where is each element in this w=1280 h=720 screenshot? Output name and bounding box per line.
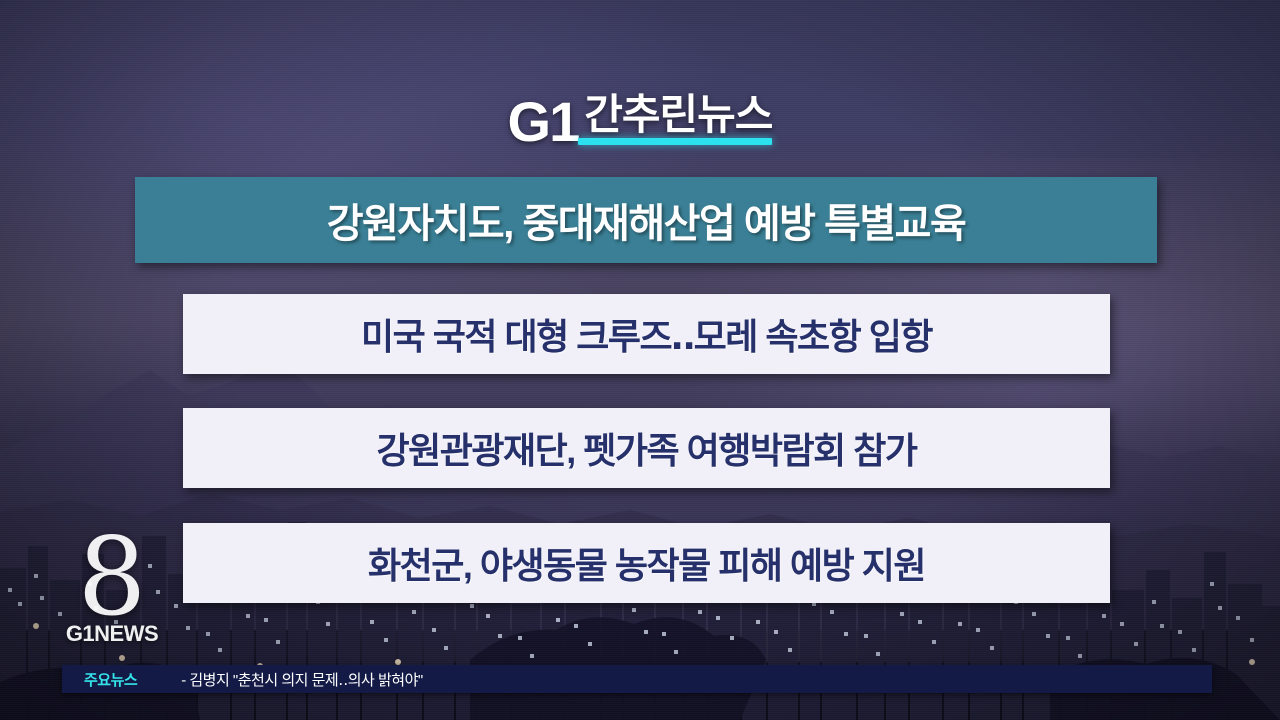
ticker-headline: - 김병지 "춘천시 의지 문제‥의사 밝혀야" <box>181 669 423 690</box>
program-title-wrap: 간추린뉴스 <box>584 94 772 148</box>
g1-logo-mark: G1 <box>508 94 579 150</box>
story-headline-3: 화천군, 야생동물 농작물 피해 예방 지원 <box>368 537 925 589</box>
news-ticker: 주요뉴스 - 김병지 "춘천시 의지 문제‥의사 밝혀야" <box>62 665 1212 693</box>
title-underline <box>578 138 772 145</box>
broadcast-screen: G1 간추린뉴스 강원자치도, 중대재해산업 예방 특별교육 미국 국적 대형 … <box>0 0 1280 720</box>
story-headline-1: 미국 국적 대형 크루즈‥모레 속초항 입항 <box>361 308 932 360</box>
story-banner-1[interactable]: 미국 국적 대형 크루즈‥모레 속초항 입항 <box>183 294 1110 374</box>
story-banner-2[interactable]: 강원관광재단, 펫가족 여행박람회 참가 <box>183 408 1110 488</box>
program-title: 간추린뉴스 <box>584 91 772 138</box>
lead-story-headline: 강원자치도, 중대재해산업 예방 특별교육 <box>327 191 966 249</box>
ticker-label: 주요뉴스 <box>84 669 137 690</box>
lead-story-banner[interactable]: 강원자치도, 중대재해산업 예방 특별교육 <box>135 177 1157 263</box>
story-headline-2: 강원관광재단, 펫가족 여행박람회 참가 <box>377 422 917 474</box>
program-logo: G1 간추린뉴스 <box>0 88 1280 148</box>
story-banner-3[interactable]: 화천군, 야생동물 농작물 피해 예방 지원 <box>183 523 1110 603</box>
